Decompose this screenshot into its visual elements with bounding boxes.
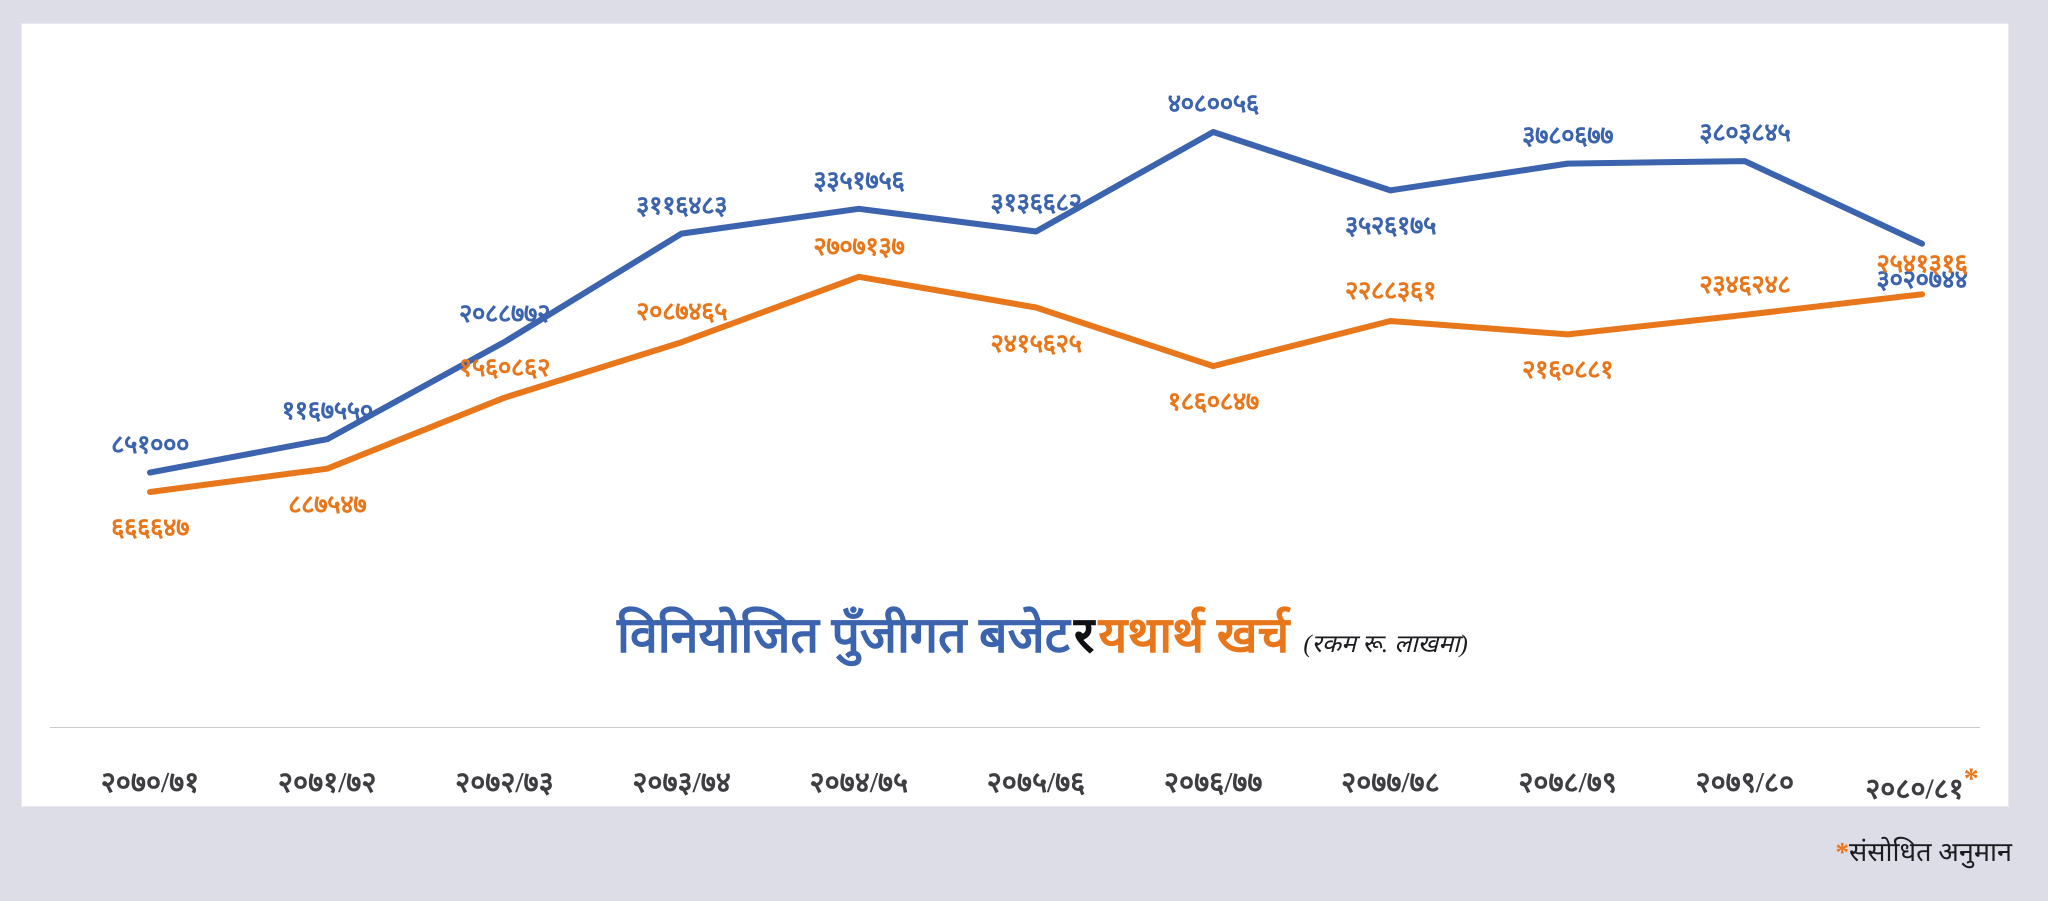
- expenditure-label-7: २२८८३६१: [1345, 271, 1436, 307]
- x-axis-label-asterisk: *: [1964, 762, 1979, 795]
- footnote-text: संसोधित अनुमान: [1849, 837, 2012, 867]
- x-axis-label-4: २०७४/७५: [810, 762, 909, 801]
- budget-label-0: ८५१०००: [111, 425, 189, 461]
- footnote: *संसोधित अनुमान: [1836, 832, 2012, 869]
- budget-label-5: ३१३६६८२: [990, 183, 1081, 219]
- title-unit-note: (रकम रू. लाखमा): [1303, 631, 1468, 658]
- x-axis-label-text: २०७२/७३: [455, 767, 554, 799]
- expenditure-label-0: ६६६६४७: [111, 508, 189, 544]
- title-expenditure-text: यथार्थ खर्च: [1098, 607, 1289, 663]
- x-axis-label-text: २०७७/७८: [1341, 767, 1440, 799]
- budget-label-6: ४०८००५६: [1168, 84, 1259, 120]
- x-axis-label-text: २०७९/८०: [1696, 767, 1795, 799]
- footnote-asterisk: *: [1836, 837, 1850, 867]
- x-axis-label-3: २०७३/७४: [632, 762, 731, 801]
- x-axis-label-text: २०७८/७९: [1518, 767, 1617, 799]
- x-axis-label-text: २०७६/७७: [1164, 767, 1263, 799]
- x-axis-label-text: २०७५/७६: [987, 767, 1086, 799]
- budget-label-4: ३३५१७५६: [813, 161, 904, 197]
- x-axis-label-6: २०७६/७७: [1164, 762, 1263, 801]
- x-axis-label-1: २०७१/७२: [278, 762, 377, 801]
- x-axis-label-10: २०८०/८१*: [1865, 762, 1979, 808]
- budget-label-7: ३५२६१७५: [1345, 206, 1436, 242]
- budget-label-8: ३७८०६७७: [1522, 116, 1613, 152]
- x-axis-label-text: २०७३/७४: [632, 767, 731, 799]
- budget-label-1: ११६७५५०: [282, 391, 373, 427]
- x-axis-label-9: २०७९/८०: [1696, 762, 1795, 801]
- budget-label-2: २०८८७७२: [459, 294, 550, 330]
- x-axis-rule: [50, 727, 1980, 728]
- title-conjunction: र: [1074, 607, 1094, 663]
- budget-label-3: ३११६४८३: [636, 186, 727, 222]
- x-axis-label-text: २०७४/७५: [810, 767, 909, 799]
- expenditure-label-9: २३४६२४८: [1699, 265, 1790, 301]
- x-axis-label-0: २०७०/७१: [101, 762, 200, 801]
- x-axis-label-text: २०७०/७१: [101, 767, 200, 799]
- plot-area: ८५१०००११६७५५०२०८८७७२३११६४८३३३५१७५६३१३६६८…: [22, 24, 2008, 806]
- line-expenditure: [150, 277, 1922, 492]
- chart-title: विनियोजित पुँजीगत बजेट र यथार्थ खर्च (रक…: [617, 599, 1468, 667]
- x-axis-label-text: २०७१/७२: [278, 767, 377, 799]
- budget-label-9: ३८०३८४५: [1699, 113, 1790, 149]
- expenditure-label-4: २७०७१३७: [813, 227, 904, 263]
- expenditure-label-5: २४१५६२५: [990, 324, 1081, 360]
- expenditure-label-1: ८८७५४७: [288, 485, 366, 521]
- chart-card: ८५१०००११६७५५०२०८८७७२३११६४८३३३५१७५६३१३६६८…: [22, 24, 2008, 806]
- x-axis-label-5: २०७५/७६: [987, 762, 1086, 801]
- x-axis-label-8: २०७८/७९: [1518, 762, 1617, 801]
- expenditure-label-2: १५६०८६२: [459, 348, 550, 384]
- title-budget-text: विनियोजित पुँजीगत बजेट: [617, 607, 1070, 663]
- x-axis-label-2: २०७२/७३: [455, 762, 554, 801]
- x-axis-label-7: २०७७/७८: [1341, 762, 1440, 801]
- expenditure-label-3: २०८७४६५: [636, 292, 727, 328]
- expenditure-label-6: १८६०८४७: [1168, 382, 1259, 418]
- expenditure-label-10: २५४१३१६: [1876, 244, 1967, 280]
- x-axis-label-text: २०८०/८१: [1865, 774, 1964, 806]
- expenditure-label-8: २१६०८८१: [1522, 350, 1613, 386]
- screenshot-root: ८५१०००११६७५५०२०८८७७२३११६४८३३३५१७५६३१३६६८…: [0, 0, 2048, 901]
